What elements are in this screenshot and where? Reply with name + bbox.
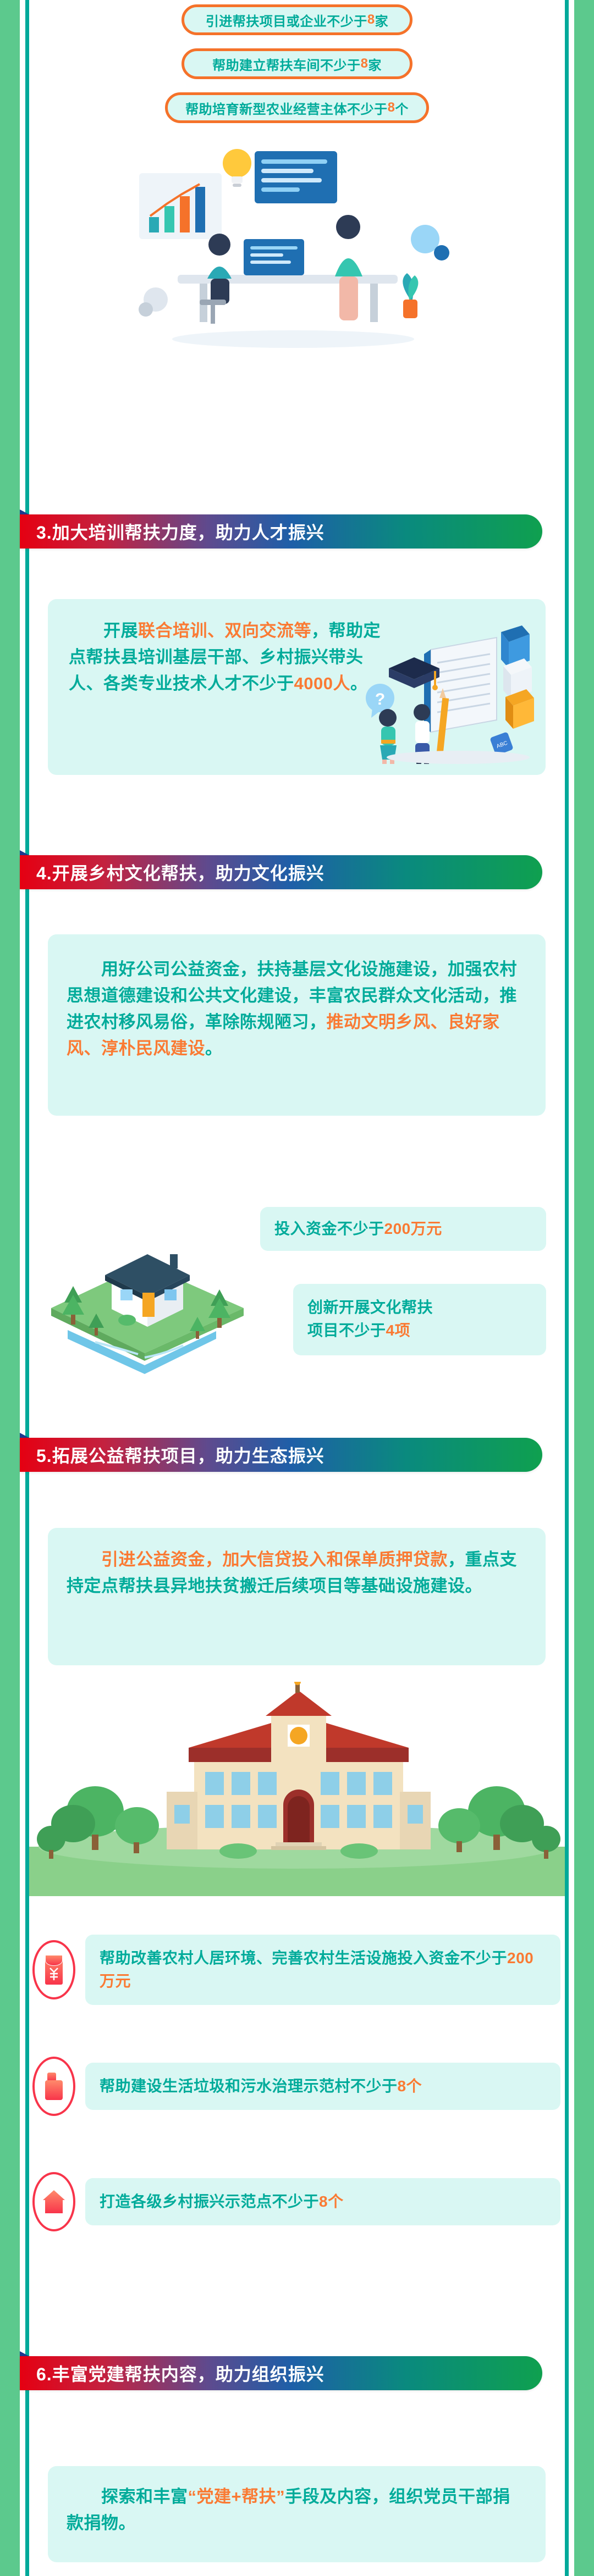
svg-text:?: ? — [375, 690, 385, 708]
office-training-illustration — [117, 135, 469, 365]
body-text-highlight: “党建+帮扶” — [188, 2487, 285, 2506]
village-house-illustration — [35, 1193, 255, 1374]
body-text-plain: 帮助建设生活垃圾和污水治理示范村不少于 — [100, 2078, 398, 2095]
body-text-plain: 探索和丰富 — [67, 2487, 188, 2506]
body-text-highlight: 8个 — [398, 2078, 422, 2095]
section-3-header-label: 3.加大培训帮扶力度，助力人才振兴 — [36, 519, 324, 544]
pill-culture-funds[interactable]: 投入资金不少于200万元 — [260, 1207, 546, 1251]
section-5-header[interactable]: 5.拓展公益帮扶项目，助力生态振兴 — [20, 1438, 542, 1472]
section-4-header-label: 4.开展乡村文化帮扶，助力文化振兴 — [36, 860, 324, 885]
pill-new-agri-entities[interactable]: 帮助培育新型农业经营主体不少于8个 — [165, 92, 429, 123]
home-icon — [42, 2189, 66, 2214]
right-teal-rail — [565, 0, 569, 2576]
pill-unit: 家 — [375, 10, 389, 30]
pill-culture-projects[interactable]: 创新开展文化帮扶 项目不少于4项 — [293, 1284, 546, 1355]
section-6-header-label: 6.丰富党建帮扶内容，助力组织振兴 — [36, 2361, 324, 2386]
pill-line-1: 创新开展文化帮扶 — [307, 1296, 532, 1319]
pill-unit: 家 — [368, 54, 382, 74]
top-pill-group: 引进帮扶项目或企业不少于8家 帮助建立帮扶车间不少于8家 帮助培育新型农业经营主… — [29, 4, 565, 123]
pill-workshops[interactable]: 帮助建立帮扶车间不少于8家 — [182, 48, 413, 79]
section-6: 6.丰富党建帮扶内容，助力组织振兴 — [29, 2356, 542, 2390]
icon-item-text[interactable]: 帮助建设生活垃圾和污水治理示范村不少于8个 — [85, 2063, 560, 2110]
section-4: 4.开展乡村文化帮扶，助力文化振兴 — [29, 855, 542, 889]
left-white-gap — [20, 0, 25, 2576]
pill-number: 8 — [367, 12, 375, 27]
left-green-rail — [0, 0, 20, 2576]
infographic-page: 引进帮扶项目或企业不少于8家 帮助建立帮扶车间不少于8家 帮助培育新型农业经营主… — [0, 0, 594, 2576]
section-5: 5.拓展公益帮扶项目，助力生态振兴 — [29, 1438, 542, 1472]
section-6-body: 探索和丰富“党建+帮扶”手段及内容，组织党员干部捐款捐物。 — [48, 2466, 546, 2562]
pill-unit: 个 — [395, 98, 409, 118]
section-6-header[interactable]: 6.丰富党建帮扶内容，助力组织振兴 — [20, 2356, 542, 2390]
body-text-plain: 开展 — [69, 621, 138, 640]
pill-number: 8 — [361, 56, 369, 71]
pill-text: 投入资金不少于 — [274, 1217, 384, 1240]
pill-intro-projects[interactable]: 引进帮扶项目或企业不少于8家 — [182, 4, 413, 35]
pill-text: 项目不少于 — [307, 1322, 386, 1339]
section-5-body: 引进公益资金，加大信贷投入和保单质押贷款，重点支持定点帮扶县异地扶贫搬迁后续项目… — [48, 1528, 546, 1665]
body-text-highlight: 联合培训、双向交流等 — [138, 621, 311, 640]
home-icon-frame — [32, 2172, 75, 2231]
icon-item-text[interactable]: 打造各级乡村振兴示范点不少于8个 — [85, 2178, 560, 2225]
right-green-rail — [574, 0, 594, 2576]
icon-item-text[interactable]: 帮助改善农村人居环境、完善农村生活设施投入资金不少于200万元 — [85, 1935, 560, 2005]
section-3-header[interactable]: 3.加大培训帮扶力度，助力人才振兴 — [20, 514, 542, 549]
pill-number: 4项 — [386, 1322, 411, 1339]
red-envelope-icon-frame — [32, 1940, 75, 1999]
pill-text: 帮助建立帮扶车间不少于 — [212, 54, 361, 74]
trash-bin-icon — [43, 2071, 65, 2101]
body-text-plain: 帮助改善农村人居环境、完善农村生活设施投入资金不少于 — [100, 1949, 507, 1966]
school-building-illustration — [29, 1682, 565, 1896]
graduation-books-illustration: ? ABC — [365, 616, 546, 764]
pill-number: 8 — [388, 100, 395, 115]
pill-line-2: 项目不少于4项 — [307, 1319, 532, 1342]
body-text-plain — [67, 1550, 101, 1569]
trash-bin-icon-frame — [32, 2057, 75, 2116]
icon-item-waste-water: 帮助建设生活垃圾和污水治理示范村不少于8个 — [32, 2057, 560, 2116]
body-text-plain: 。 — [205, 1039, 223, 1058]
pill-text: 引进帮扶项目或企业不少于 — [206, 10, 367, 30]
section-4-body: 用好公司公益资金，扶持基层文化设施建设，加强农村思想道德建设和公共文化建设，丰富… — [48, 934, 546, 1116]
section-5-header-label: 5.拓展公益帮扶项目，助力生态振兴 — [36, 1442, 324, 1467]
pill-number: 200万元 — [384, 1217, 442, 1240]
body-text-highlight: 引进公益资金，加大信贷投入和保单质押贷款 — [101, 1550, 448, 1569]
pill-text: 帮助培育新型农业经营主体不少于 — [185, 98, 388, 118]
body-text-plain: 打造各级乡村振兴示范点不少于 — [100, 2193, 319, 2210]
section-3: 3.加大培训帮扶力度，助力人才振兴 — [29, 514, 542, 549]
icon-item-living-environment: 帮助改善农村人居环境、完善农村生活设施投入资金不少于200万元 — [32, 1935, 560, 2005]
red-envelope-icon — [43, 1954, 65, 1986]
content-column: 引进帮扶项目或企业不少于8家 帮助建立帮扶车间不少于8家 帮助培育新型农业经营主… — [29, 0, 565, 2576]
section-4-header[interactable]: 4.开展乡村文化帮扶，助力文化振兴 — [20, 855, 542, 889]
left-teal-rail — [25, 0, 29, 2576]
right-white-gap — [569, 0, 574, 2576]
body-text-highlight: 8个 — [319, 2193, 344, 2210]
icon-item-demo-sites: 打造各级乡村振兴示范点不少于8个 — [32, 2172, 560, 2231]
body-text-highlight: 4000人 — [294, 674, 350, 693]
